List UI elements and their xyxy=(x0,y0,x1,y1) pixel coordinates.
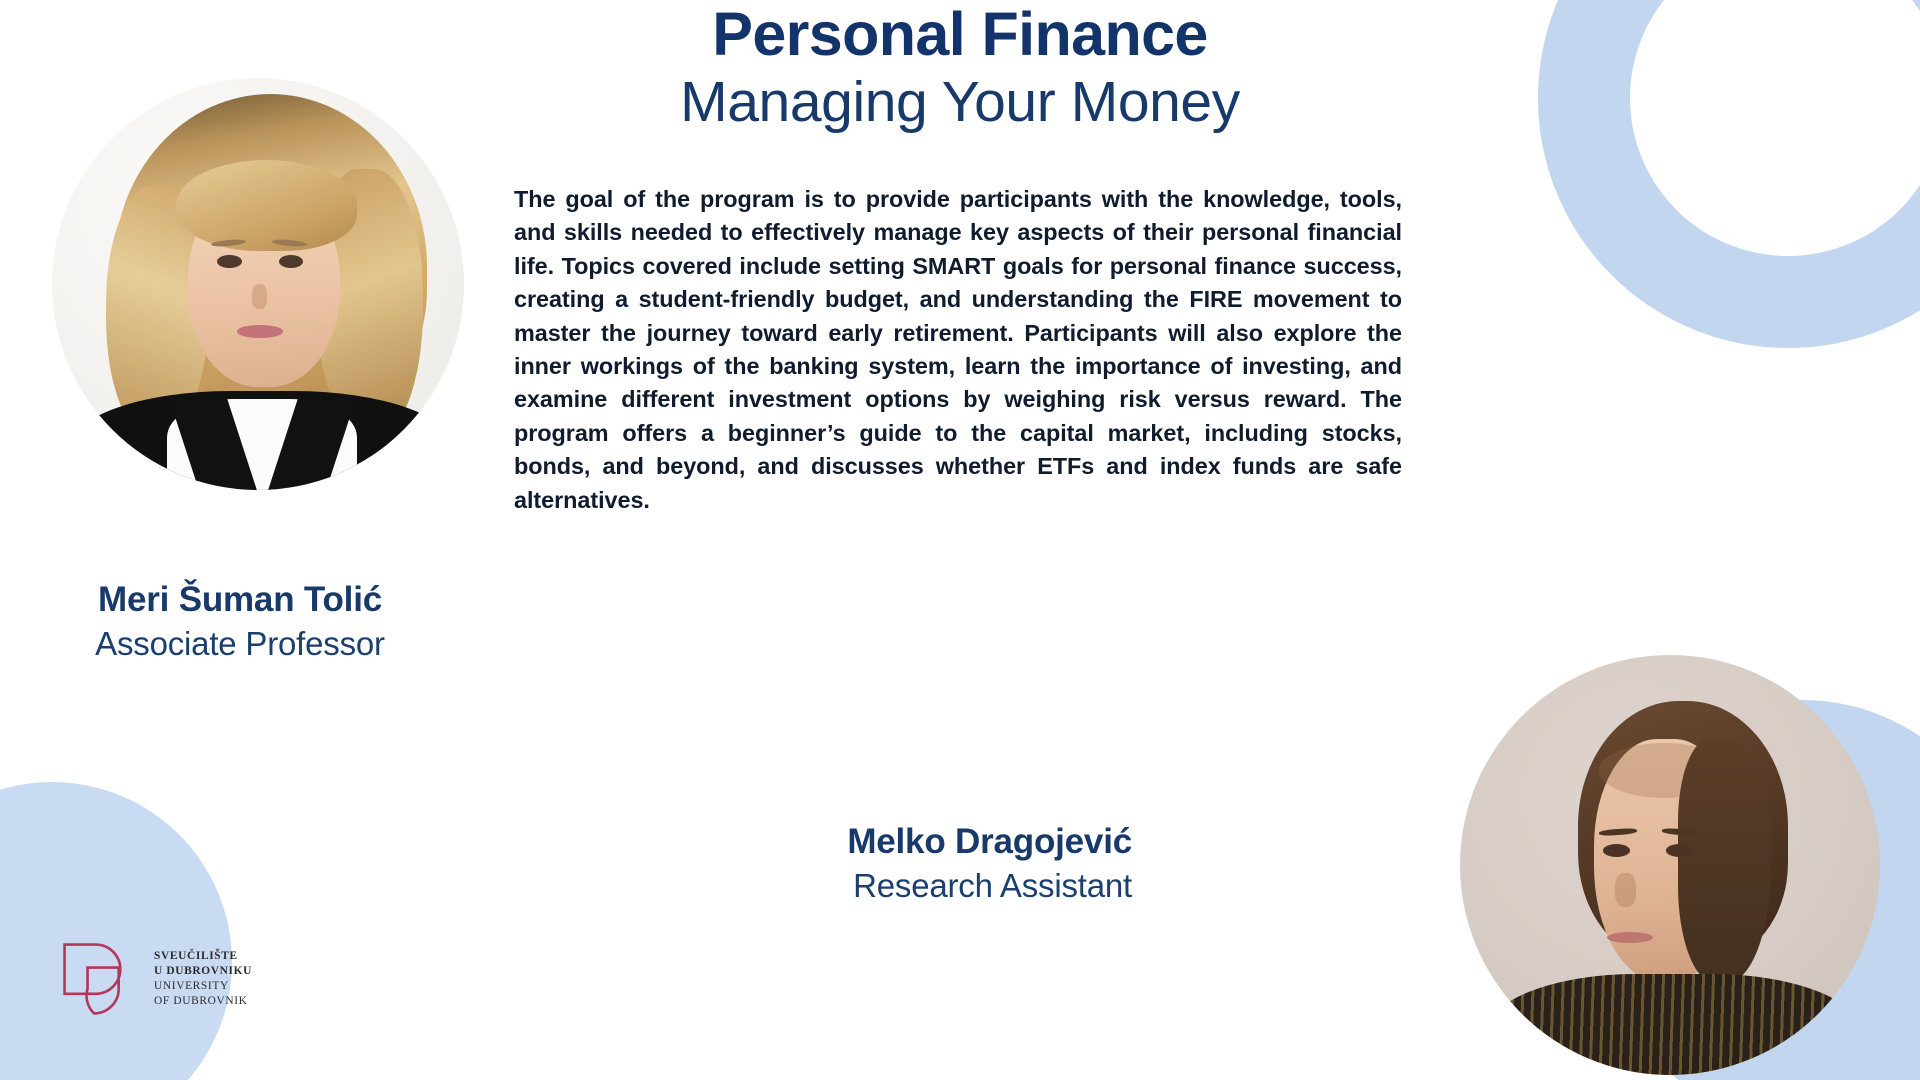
portrait-photo-meri-suman-tolic xyxy=(52,78,464,490)
decorative-ring-top-right xyxy=(1538,0,1920,348)
portrait-photo-melko-dragojevic xyxy=(1460,655,1880,1075)
logo-line-u-dubrovniku: U DUBROVNIKU xyxy=(154,964,252,979)
presenter-name: Meri Šuman Tolić xyxy=(52,578,428,622)
university-logo-text: SVEUČILIŠTE U DUBROVNIKU UNIVERSITY OF D… xyxy=(154,949,252,1009)
decorative-circle-bottom-left xyxy=(0,782,232,1080)
logo-line-university: UNIVERSITY xyxy=(154,979,252,994)
page-title: Personal Finance xyxy=(500,2,1420,68)
presenter-block-meri: Meri Šuman Tolić Associate Professor xyxy=(52,578,428,666)
portrait-image-meri xyxy=(52,78,464,490)
presenter-role: Associate Professor xyxy=(52,622,428,666)
presenter-block-melko: Melko Dragojević Research Assistant xyxy=(752,820,1132,908)
logo-line-sveuciliste: SVEUČILIŠTE xyxy=(154,949,252,964)
portrait-image-melko xyxy=(1460,655,1880,1075)
page-subtitle: Managing Your Money xyxy=(500,68,1420,138)
university-logo: SVEUČILIŠTE U DUBROVNIKU UNIVERSITY OF D… xyxy=(58,938,252,1020)
presenter-role: Research Assistant xyxy=(752,864,1132,908)
logo-line-of-dubrovnik: OF DUBROVNIK xyxy=(154,994,252,1009)
dubrovnik-du-monogram-icon xyxy=(58,938,140,1020)
program-description: The goal of the program is to provide pa… xyxy=(514,183,1402,517)
presentation-slide: Personal Finance Managing Your Money The… xyxy=(0,0,1920,1080)
presenter-name: Melko Dragojević xyxy=(752,820,1132,864)
slide-header: Personal Finance Managing Your Money xyxy=(500,2,1420,137)
